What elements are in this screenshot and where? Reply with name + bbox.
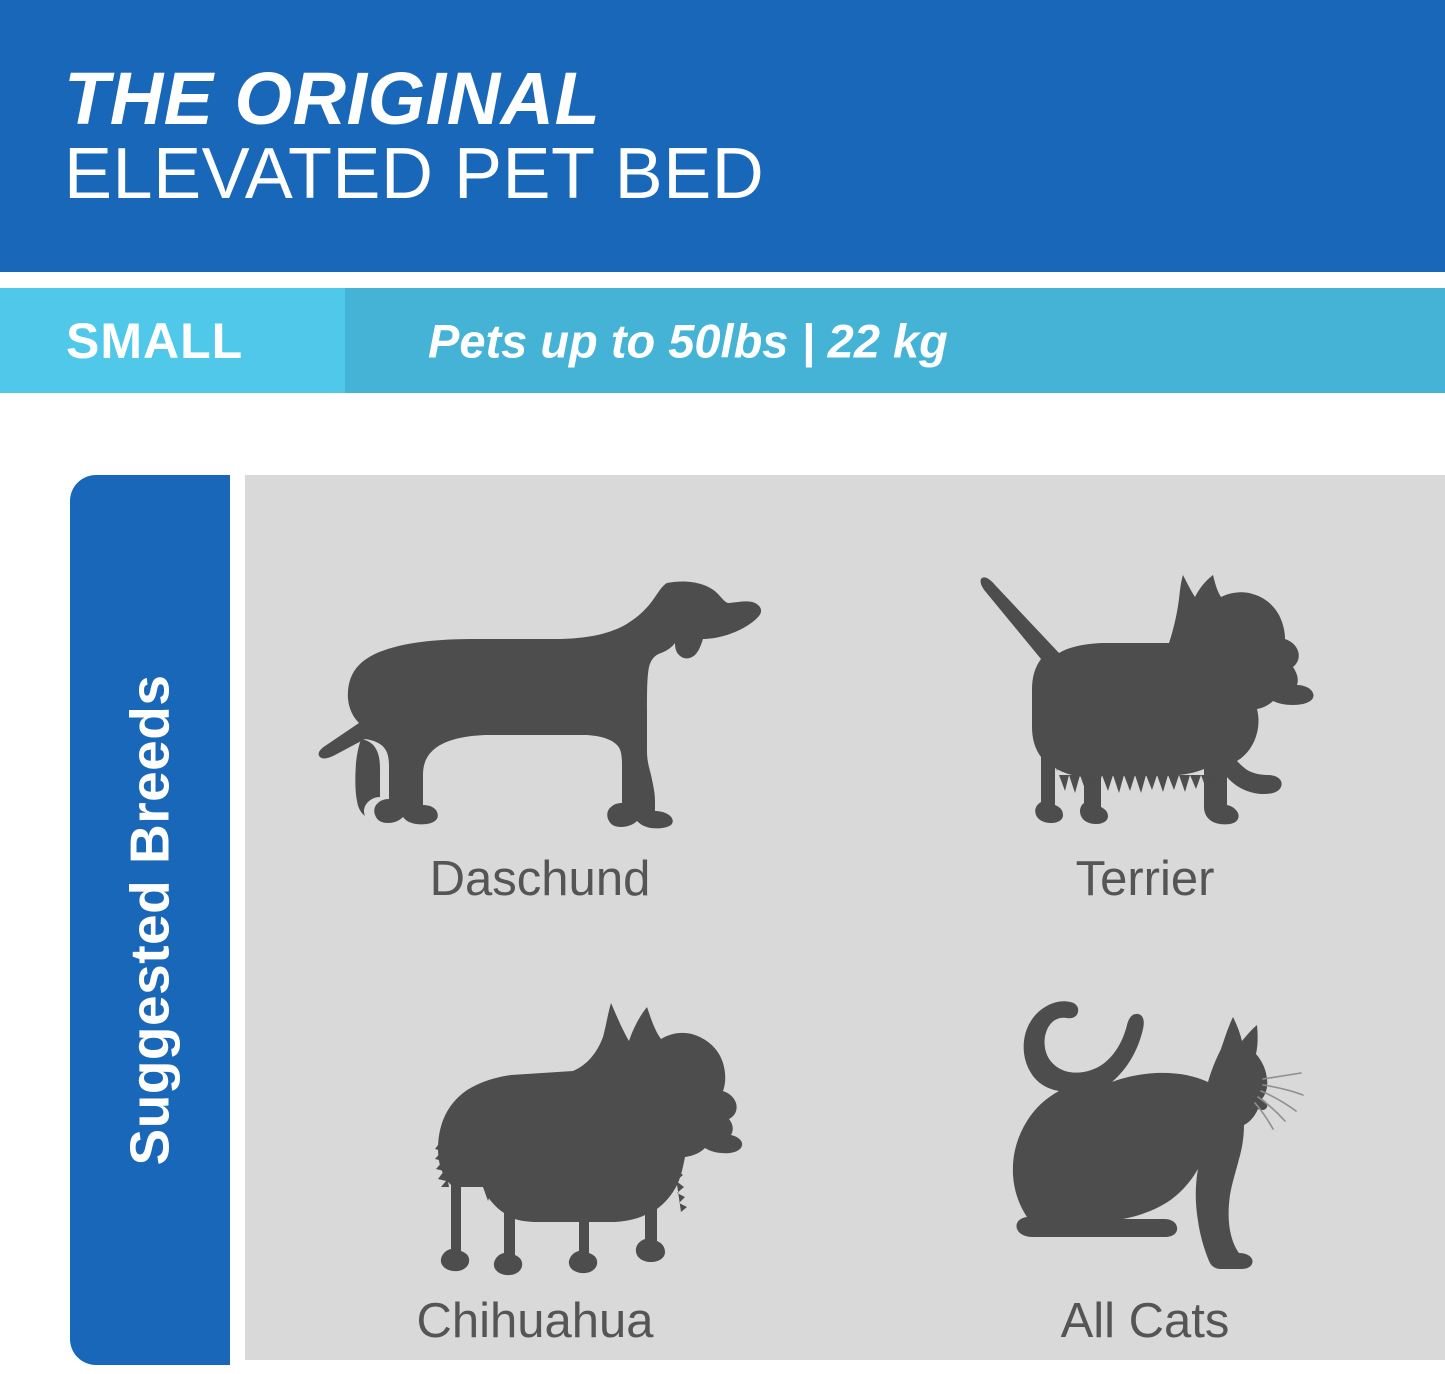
suggested-breeds-label: Suggested Breeds [123, 675, 178, 1166]
size-label: SMALL [66, 316, 243, 366]
header-title-block: THE ORIGINAL ELEVATED PET BED [64, 62, 1164, 212]
dachshund-silhouette-icon [245, 539, 845, 839]
breed-item-chihuahua: Chihuahua [245, 918, 845, 1361]
terrier-silhouette-icon [845, 539, 1445, 839]
breeds-panel: Daschund Terrier [245, 475, 1445, 1360]
breed-item-terrier: Terrier [845, 475, 1445, 918]
header-banner: THE ORIGINAL ELEVATED PET BED [0, 0, 1445, 272]
size-banner: SMALL Pets up to 50lbs | 22 kg [0, 288, 1445, 393]
size-banner-left-block: SMALL [0, 288, 345, 393]
breed-item-all-cats: All Cats [845, 918, 1445, 1361]
breed-label: All Cats [1061, 1297, 1230, 1346]
product-tagline: THE ORIGINAL [64, 62, 1164, 135]
breed-grid: Daschund Terrier [245, 475, 1445, 1360]
breed-label: Daschund [430, 855, 651, 904]
breed-label: Chihuahua [416, 1297, 653, 1346]
breed-label: Terrier [1076, 855, 1215, 904]
breed-item-dachshund: Daschund [245, 475, 845, 918]
cat-silhouette-icon [845, 981, 1445, 1281]
weight-capacity-label: Pets up to 50lbs | 22 kg [428, 317, 948, 364]
product-title: ELEVATED PET BED [64, 137, 1164, 212]
chihuahua-silhouette-icon [245, 981, 845, 1281]
suggested-breeds-tab: Suggested Breeds [70, 475, 230, 1365]
